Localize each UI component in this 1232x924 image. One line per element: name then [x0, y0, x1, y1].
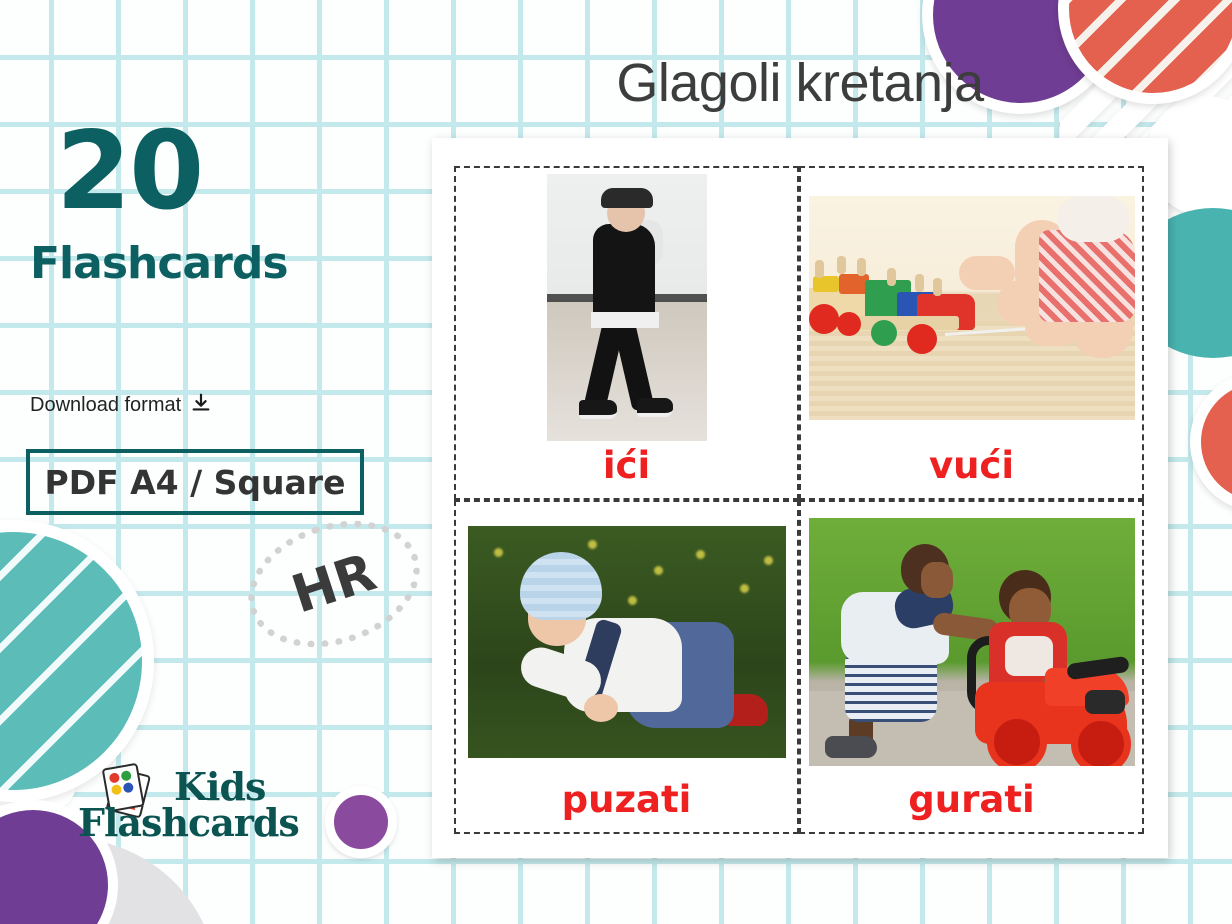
card-image-wrap	[462, 174, 791, 441]
card-label: vući	[929, 441, 1014, 494]
format-button-label: PDF A4 / Square	[45, 463, 346, 502]
download-icon[interactable]	[190, 392, 212, 419]
sidebar: 20 Flashcards Download format PDF A4 / S…	[0, 0, 430, 924]
flashcard-vuci[interactable]: vući	[799, 166, 1144, 500]
flashcard-count-label: Flashcards	[30, 242, 288, 286]
download-format-row: Download format	[30, 392, 212, 419]
page-background: 20 Flashcards Download format PDF A4 / S…	[0, 0, 1232, 924]
card-label: puzati	[562, 775, 692, 828]
brand-logo[interactable]: Kids Flashcards	[78, 762, 378, 862]
brand-name-line2: Flashcards	[78, 800, 299, 845]
language-stamp-label: HR	[232, 500, 436, 669]
flashcards-panel: ići	[432, 138, 1168, 858]
man-walking-photo	[547, 174, 707, 441]
page-title: Glagoli kretanja	[432, 52, 1168, 114]
card-image-wrap	[462, 508, 791, 775]
child-pulling-toy-train-photo	[809, 196, 1135, 420]
boy-pushing-toy-car-photo	[809, 518, 1135, 766]
download-format-label: Download format	[30, 394, 181, 417]
coral-circle-right-decoration	[1190, 372, 1232, 512]
card-image-wrap	[807, 174, 1136, 441]
flashcards-grid: ići	[454, 166, 1144, 834]
card-label: gurati	[908, 775, 1034, 828]
baby-crawling-on-grass-photo	[468, 526, 786, 758]
format-select-button[interactable]: PDF A4 / Square	[26, 449, 364, 515]
flashcard-count-number: 20	[56, 118, 202, 226]
flashcard-gurati[interactable]: gurati	[799, 500, 1144, 834]
language-stamp: HR	[232, 500, 436, 669]
card-image-wrap	[807, 508, 1136, 775]
flashcard-puzati[interactable]: puzati	[454, 500, 799, 834]
card-label: ići	[603, 441, 650, 494]
flashcard-ici[interactable]: ići	[454, 166, 799, 500]
